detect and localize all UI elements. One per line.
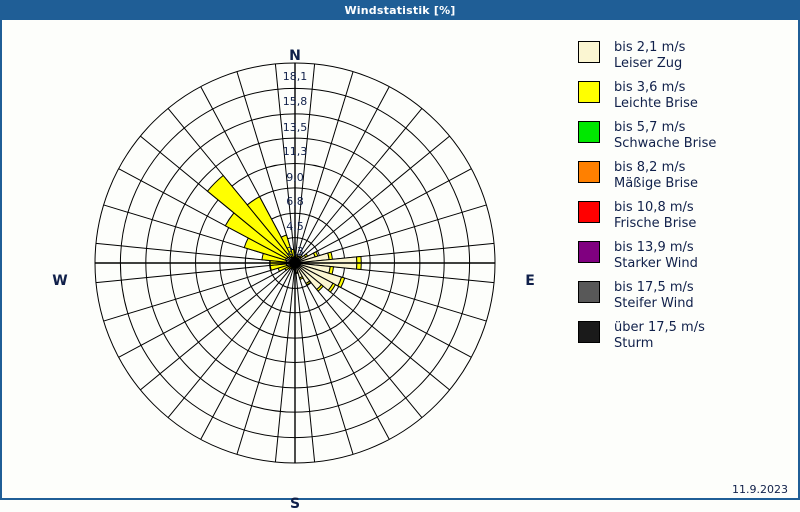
legend-item[interactable]: bis 8,2 m/sMäßige Brise — [578, 160, 793, 192]
footer-date: 11.9.2023 — [732, 483, 788, 496]
legend-swatch-icon — [578, 281, 600, 303]
legend-speed-label: bis 5,7 m/s — [614, 120, 685, 135]
radial-tick-label: 18,1 — [273, 70, 317, 83]
radial-tick-label: 6,8 — [273, 195, 317, 208]
legend-item[interactable]: über 17,5 m/sSturm — [578, 320, 793, 352]
legend-item[interactable]: bis 13,9 m/sStarker Wind — [578, 240, 793, 272]
grid-spoke — [295, 169, 471, 263]
legend-item-text: bis 8,2 m/sMäßige Brise — [614, 160, 698, 192]
compass-label-south: S — [270, 496, 320, 512]
grid-spoke — [168, 263, 295, 418]
legend-item-text: bis 10,8 m/sFrische Brise — [614, 200, 696, 232]
legend-speed-label: bis 17,5 m/s — [614, 280, 694, 295]
legend-item[interactable]: bis 3,6 m/sLeichte Brise — [578, 80, 793, 112]
radial-tick-label: 11,3 — [273, 145, 317, 158]
legend-swatch-icon — [578, 81, 600, 103]
legend-swatch-icon — [578, 121, 600, 143]
legend-item-text: über 17,5 m/sSturm — [614, 320, 705, 352]
windrose-window: Windstatistik [%] N E S W 2,34,56,89,011… — [0, 0, 800, 500]
legend-name-label: Sturm — [614, 336, 705, 352]
legend-name-label: Steifer Wind — [614, 296, 694, 312]
radial-tick-label: 13,5 — [273, 121, 317, 134]
window-title: Windstatistik [%] — [344, 4, 455, 17]
legend-swatch-icon — [578, 241, 600, 263]
grid-spoke — [237, 263, 295, 454]
legend-name-label: Starker Wind — [614, 256, 698, 272]
windrose-petals — [207, 175, 361, 292]
grid-spoke — [201, 263, 295, 439]
legend-item-text: bis 2,1 m/sLeiser Zug — [614, 40, 685, 72]
legend-speed-label: bis 3,6 m/s — [614, 80, 685, 95]
legend-item[interactable]: bis 10,8 m/sFrische Brise — [578, 200, 793, 232]
legend-speed-label: bis 13,9 m/s — [614, 240, 694, 255]
grid-spoke — [119, 263, 295, 357]
grid-spoke — [295, 136, 450, 263]
legend: bis 2,1 m/sLeiser Zugbis 3,6 m/sLeichte … — [578, 40, 793, 360]
grid-spoke — [104, 263, 295, 321]
legend-speed-label: über 17,5 m/s — [614, 320, 705, 335]
legend-item-text: bis 13,9 m/sStarker Wind — [614, 240, 698, 272]
compass-label-east: E — [505, 273, 555, 289]
legend-speed-label: bis 10,8 m/s — [614, 200, 694, 215]
legend-name-label: Frische Brise — [614, 216, 696, 232]
windrose-petal-segment — [296, 272, 298, 273]
windrose-petal-segment — [328, 252, 333, 260]
legend-item[interactable]: bis 17,5 m/sSteifer Wind — [578, 280, 793, 312]
legend-swatch-icon — [578, 161, 600, 183]
legend-speed-label: bis 8,2 m/s — [614, 160, 685, 175]
radial-tick-label: 2,3 — [273, 245, 317, 258]
legend-name-label: Leichte Brise — [614, 96, 698, 112]
legend-swatch-icon — [578, 41, 600, 63]
window-title-bar: Windstatistik [%] — [0, 0, 800, 20]
legend-item-text: bis 5,7 m/sSchwache Brise — [614, 120, 716, 152]
radial-tick-label: 15,8 — [273, 95, 317, 108]
grid-spoke — [140, 263, 295, 390]
windrose-plot-area: N E S W 2,34,56,89,011,313,515,818,1 — [0, 20, 560, 500]
legend-item-text: bis 17,5 m/sSteifer Wind — [614, 280, 694, 312]
grid-spoke — [295, 263, 353, 454]
legend-name-label: Schwache Brise — [614, 136, 716, 152]
radial-tick-label: 9,0 — [273, 171, 317, 184]
legend-name-label: Mäßige Brise — [614, 176, 698, 192]
windrose-svg — [0, 20, 560, 500]
legend-name-label: Leiser Zug — [614, 56, 685, 72]
legend-item[interactable]: bis 5,7 m/sSchwache Brise — [578, 120, 793, 152]
legend-speed-label: bis 2,1 m/s — [614, 40, 685, 55]
compass-label-west: W — [35, 273, 85, 289]
legend-item[interactable]: bis 2,1 m/sLeiser Zug — [578, 40, 793, 72]
grid-spoke — [295, 263, 389, 439]
legend-swatch-icon — [578, 321, 600, 343]
compass-label-north: N — [270, 48, 320, 64]
legend-swatch-icon — [578, 201, 600, 223]
legend-item-text: bis 3,6 m/sLeichte Brise — [614, 80, 698, 112]
radial-tick-label: 4,5 — [273, 220, 317, 233]
